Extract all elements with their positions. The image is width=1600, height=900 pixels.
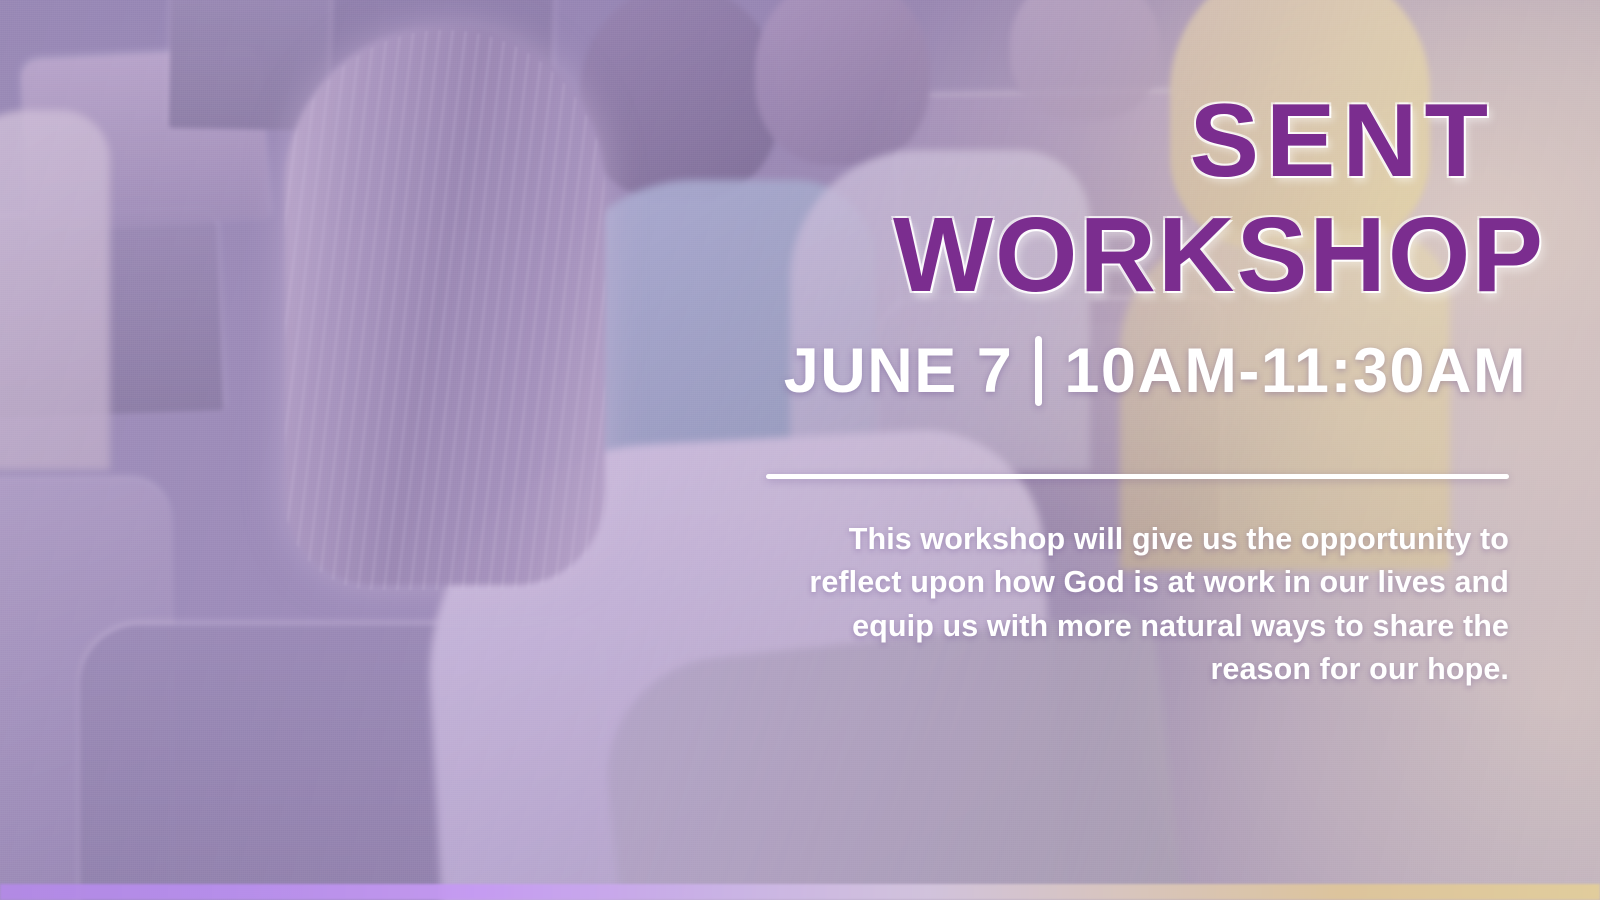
event-date: JUNE 7 (784, 340, 1014, 403)
event-time: 10AM-11:30AM (1064, 340, 1527, 403)
event-description: This workshop will give us the opportuni… (799, 518, 1509, 691)
event-poster: SENT WORKSHOP JUNE 7 10AM-11:30AM This w… (0, 0, 1600, 900)
headline-sent: SENT (1190, 92, 1495, 191)
event-datetime: JUNE 7 10AM-11:30AM (784, 336, 1527, 406)
vertical-divider-icon (1035, 336, 1042, 406)
horizontal-rule (766, 474, 1509, 479)
poster-text-block: SENT WORKSHOP JUNE 7 10AM-11:30AM This w… (645, 0, 1545, 900)
headline-workshop: WORKSHOP (893, 205, 1545, 306)
